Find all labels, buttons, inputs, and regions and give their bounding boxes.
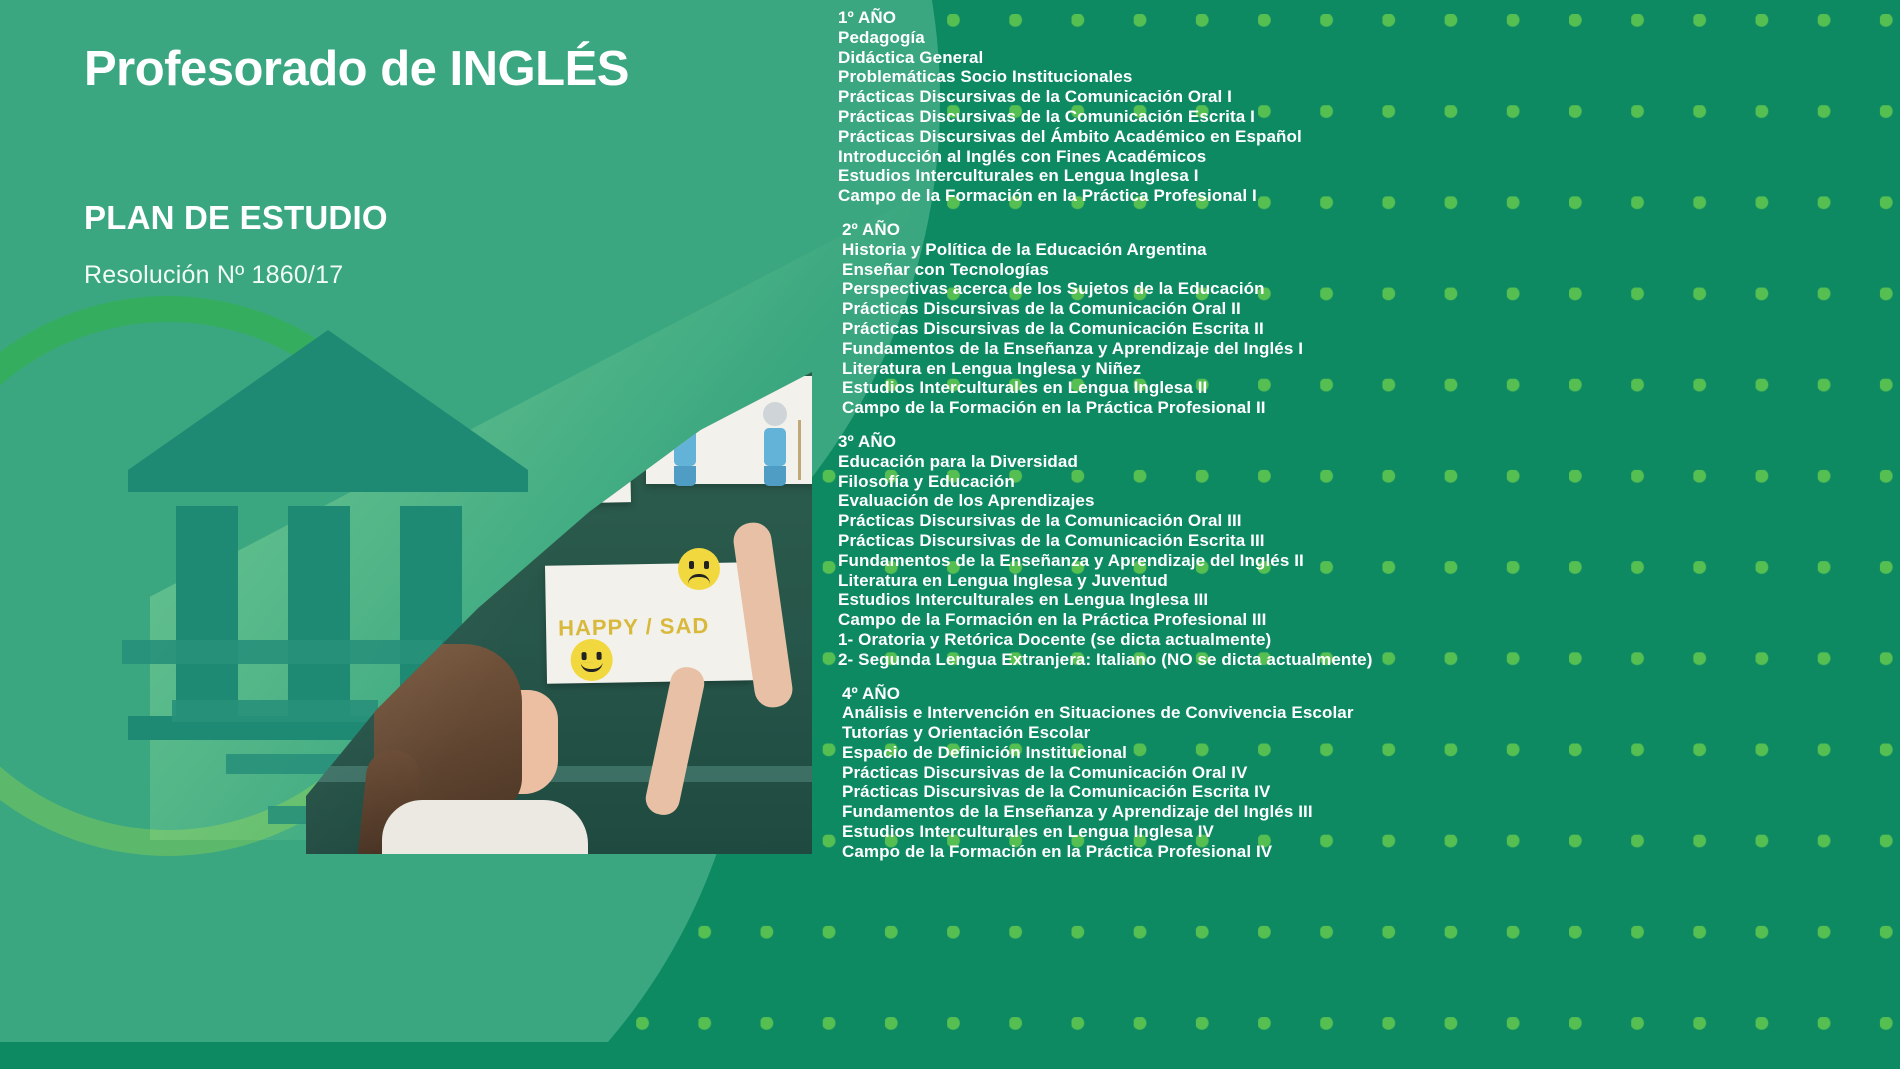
- course-item: Fundamentos de la Enseñanza y Aprendizaj…: [838, 802, 1888, 822]
- decor-bar-2: [172, 700, 378, 722]
- bottom-strip: [0, 1042, 1900, 1069]
- slide-canvas: YOUNG / OLD HAPPY / SAD: [0, 0, 1900, 1069]
- course-item: Problemáticas Socio Institucionales: [838, 67, 1888, 87]
- resolution-text: Resolución Nº 1860/17: [84, 261, 904, 290]
- course-item: Estudios Interculturales en Lengua Ingle…: [838, 378, 1888, 398]
- course-item: Prácticas Discursivas de la Comunicación…: [838, 87, 1888, 107]
- course-item: 2- Segunda Lengua Extranjera: Italiano (…: [838, 650, 1888, 670]
- page-title: Profesorado de INGLÉS: [84, 44, 904, 95]
- course-item: Análisis e Intervención en Situaciones d…: [838, 703, 1888, 723]
- year-heading: 1º AÑO: [838, 8, 1888, 28]
- course-item: Estudios Interculturales en Lengua Ingle…: [838, 590, 1888, 610]
- year-block: 1º AÑOPedagogíaDidáctica GeneralProblemá…: [838, 8, 1888, 206]
- year-block: 2º AÑOHistoria y Política de la Educació…: [838, 220, 1888, 418]
- course-item: Fundamentos de la Enseñanza y Aprendizaj…: [838, 339, 1888, 359]
- course-item: Prácticas Discursivas de la Comunicación…: [838, 782, 1888, 802]
- course-item: Prácticas Discursivas de la Comunicación…: [838, 763, 1888, 783]
- year-heading: 2º AÑO: [838, 220, 1888, 240]
- course-item: Prácticas Discursivas de la Comunicación…: [838, 531, 1888, 551]
- course-item: Prácticas Discursivas de la Comunicación…: [838, 511, 1888, 531]
- course-item: Educación para la Diversidad: [838, 452, 1888, 472]
- course-item: Espacio de Definición Institucional: [838, 743, 1888, 763]
- course-item: Campo de la Formación en la Práctica Pro…: [838, 186, 1888, 206]
- course-item: Prácticas Discursivas de la Comunicación…: [838, 319, 1888, 339]
- year-heading: 3º AÑO: [838, 432, 1888, 452]
- year-block: 3º AÑOEducación para la DiversidadFiloso…: [838, 432, 1888, 670]
- course-item: 1- Oratoria y Retórica Docente (se dicta…: [838, 630, 1888, 650]
- course-item: Estudios Interculturales en Lengua Ingle…: [838, 822, 1888, 842]
- course-item: Prácticas Discursivas de la Comunicación…: [838, 299, 1888, 319]
- course-item: Campo de la Formación en la Práctica Pro…: [838, 610, 1888, 630]
- heading-block: Profesorado de INGLÉS PLAN DE ESTUDIO Re…: [84, 44, 904, 290]
- course-item: Evaluación de los Aprendizajes: [838, 491, 1888, 511]
- course-item: Estudios Interculturales en Lengua Ingle…: [838, 166, 1888, 186]
- course-item: Enseñar con Tecnologías: [838, 260, 1888, 280]
- curriculum-list: 1º AÑOPedagogíaDidáctica GeneralProblemá…: [838, 8, 1888, 862]
- decor-bar-1: [122, 640, 442, 664]
- course-item: Historia y Política de la Educación Arge…: [838, 240, 1888, 260]
- course-item: Tutorías y Orientación Escolar: [838, 723, 1888, 743]
- course-item: Didáctica General: [838, 48, 1888, 68]
- page-subtitle: PLAN DE ESTUDIO: [84, 199, 904, 237]
- course-item: Campo de la Formación en la Práctica Pro…: [838, 842, 1888, 862]
- course-item: Perspectivas acerca de los Sujetos de la…: [838, 279, 1888, 299]
- year-block: 4º AÑOAnálisis e Intervención en Situaci…: [838, 684, 1888, 862]
- course-item: Introducción al Inglés con Fines Académi…: [838, 147, 1888, 167]
- course-item: Literatura en Lengua Inglesa y Niñez: [838, 359, 1888, 379]
- course-item: Filosofía y Educación: [838, 472, 1888, 492]
- course-item: Pedagogía: [838, 28, 1888, 48]
- course-item: Fundamentos de la Enseñanza y Aprendizaj…: [838, 551, 1888, 571]
- course-item: Literatura en Lengua Inglesa y Juventud: [838, 571, 1888, 591]
- course-item: Prácticas Discursivas del Ámbito Académi…: [838, 127, 1888, 147]
- course-item: Prácticas Discursivas de la Comunicación…: [838, 107, 1888, 127]
- course-item: Campo de la Formación en la Práctica Pro…: [838, 398, 1888, 418]
- year-heading: 4º AÑO: [838, 684, 1888, 704]
